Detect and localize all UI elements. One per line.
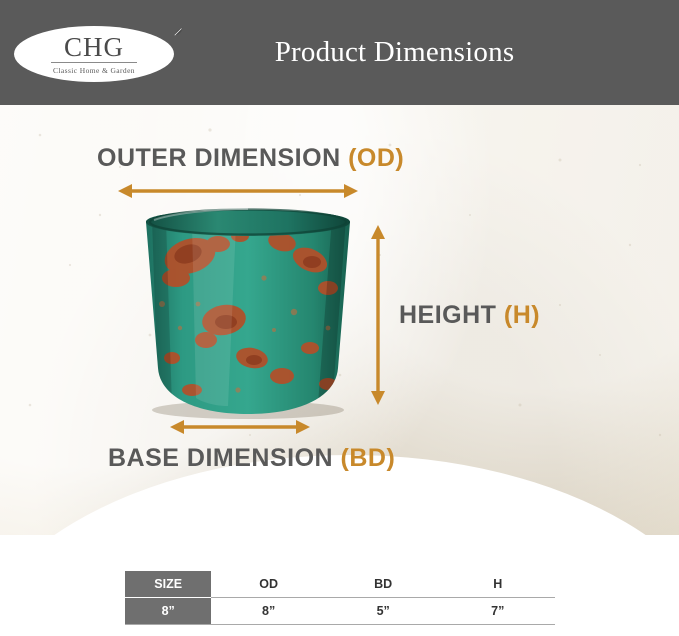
label-height-text: HEIGHT	[399, 301, 504, 329]
table-header-od: OD	[211, 571, 326, 598]
table-header-row: SIZE OD BD H	[125, 571, 555, 598]
cell-size: 8”	[125, 598, 211, 625]
pot-illustration	[132, 208, 364, 420]
header-bar: CHG Classic Home & Garden Product Dimens…	[0, 0, 679, 105]
label-base-dimension: BASE DIMENSION (BD)	[108, 444, 395, 473]
product-dimensions-infographic: CHG Classic Home & Garden Product Dimens…	[0, 0, 679, 636]
label-outer-dimension: OUTER DIMENSION (OD)	[97, 144, 404, 173]
cell-bd: 5”	[326, 598, 441, 625]
cell-h: 7”	[440, 598, 555, 625]
table-header-size: SIZE	[125, 571, 211, 598]
label-height-code: (H)	[504, 301, 540, 329]
dimensions-table-area: SIZE OD BD H 8” 8” 5” 7”	[0, 535, 679, 636]
ceramic-planter-pot	[132, 208, 364, 420]
page-title: Product Dimensions	[0, 0, 679, 105]
table-row: 8” 8” 5” 7”	[125, 598, 555, 625]
base-dimension-arrow	[170, 419, 310, 435]
diagram-stage: OUTER DIMENSION (OD)	[0, 105, 679, 535]
table-header-h: H	[440, 571, 555, 598]
label-outer-dimension-text: OUTER DIMENSION	[97, 144, 348, 172]
dimensions-table: SIZE OD BD H 8” 8” 5” 7”	[125, 571, 555, 625]
label-outer-dimension-code: (OD)	[348, 144, 404, 172]
outer-dimension-arrow	[118, 183, 358, 199]
label-base-dimension-code: (BD)	[341, 444, 396, 472]
label-height: HEIGHT (H)	[399, 301, 540, 330]
height-arrow	[370, 225, 386, 405]
table-header-bd: BD	[326, 571, 441, 598]
cell-od: 8”	[211, 598, 326, 625]
label-base-dimension-text: BASE DIMENSION	[108, 444, 341, 472]
